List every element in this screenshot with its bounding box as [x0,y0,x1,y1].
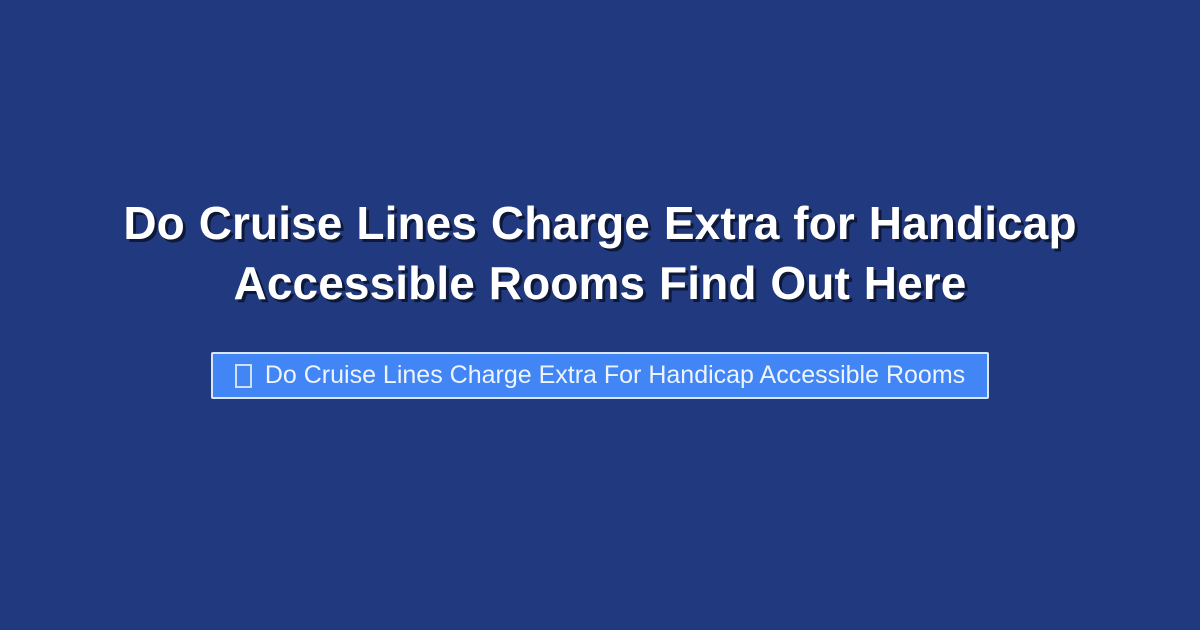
article-link-button-label: Do Cruise Lines Charge Extra For Handica… [265,363,965,388]
cta-container: Do Cruise Lines Charge Extra For Handica… [0,352,1200,399]
tofu-box-icon [235,364,252,388]
article-link-button[interactable]: Do Cruise Lines Charge Extra For Handica… [211,352,989,399]
card-content-stack: Do Cruise Lines Charge Extra for Handica… [0,193,1200,399]
page-title: Do Cruise Lines Charge Extra for Handica… [45,193,1155,313]
social-share-card: Do Cruise Lines Charge Extra for Handica… [0,0,1200,630]
